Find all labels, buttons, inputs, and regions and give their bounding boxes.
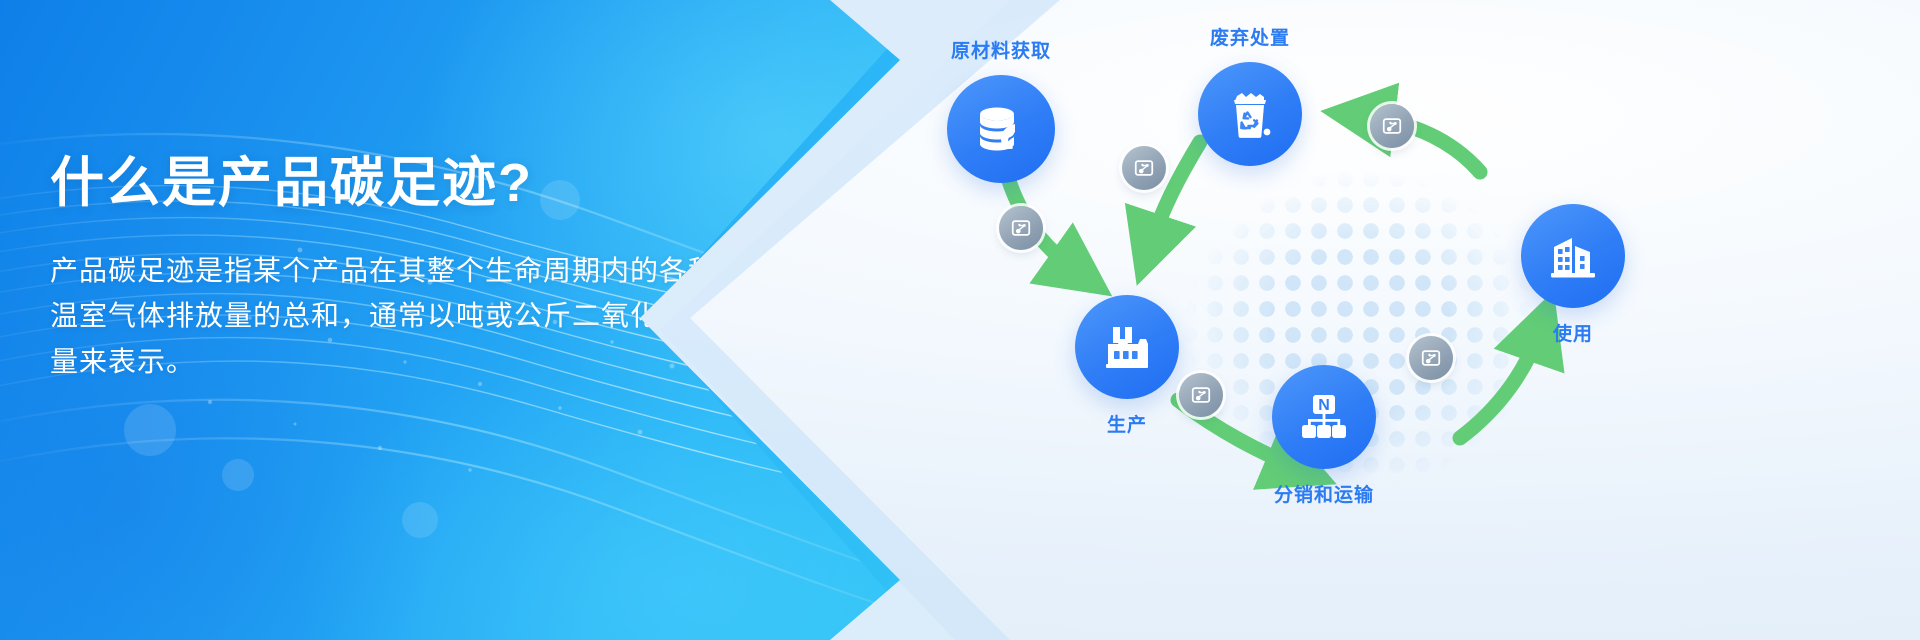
connector-badge-3[interactable] bbox=[1370, 104, 1414, 148]
node-distribution[interactable]: N 分销和运输 bbox=[1272, 365, 1376, 469]
svg-text:N: N bbox=[1318, 397, 1330, 414]
hero-copy: 什么是产品碳足迹? 产品碳足迹是指某个产品在其整个生命周期内的各种温室气体排放量… bbox=[50, 152, 770, 384]
share-nodes-icon bbox=[1190, 384, 1212, 406]
node-label-production: 生产 bbox=[1107, 410, 1147, 437]
connector-badge-4[interactable] bbox=[1409, 336, 1453, 380]
lifecycle-diagram: 原材料获取 废弃处置 bbox=[900, 0, 1920, 640]
node-bubble-distribution[interactable]: N bbox=[1272, 365, 1376, 469]
page-title: 什么是产品碳足迹? bbox=[50, 152, 770, 214]
share-nodes-icon bbox=[1133, 157, 1155, 179]
buildings-icon bbox=[1546, 229, 1600, 283]
arrow-distribution-to-use bbox=[1460, 330, 1540, 438]
connector-badge-1[interactable] bbox=[999, 206, 1043, 250]
node-bubble-production[interactable] bbox=[1075, 295, 1179, 399]
connector-badge-5[interactable] bbox=[1179, 373, 1223, 417]
recycle-bin-icon bbox=[1223, 87, 1277, 141]
node-label-waste: 废弃处置 bbox=[1210, 23, 1290, 50]
node-use[interactable]: 使用 bbox=[1521, 204, 1625, 308]
node-bubble-waste[interactable] bbox=[1198, 62, 1302, 166]
hero-description: 产品碳足迹是指某个产品在其整个生命周期内的各种温室气体排放量的总和，通常以吨或公… bbox=[50, 248, 740, 384]
node-waste[interactable]: 废弃处置 bbox=[1198, 62, 1302, 166]
factory-icon bbox=[1100, 320, 1154, 374]
network-node-icon: N bbox=[1296, 389, 1352, 445]
share-nodes-icon bbox=[1010, 217, 1032, 239]
node-bubble-raw-material[interactable] bbox=[947, 75, 1055, 183]
database-leaf-icon bbox=[973, 101, 1029, 157]
node-production[interactable]: 生产 bbox=[1075, 295, 1179, 399]
hero-banner: 什么是产品碳足迹? 产品碳足迹是指某个产品在其整个生命周期内的各种温室气体排放量… bbox=[0, 0, 1920, 640]
share-nodes-icon bbox=[1381, 115, 1403, 137]
node-label-raw-material: 原材料获取 bbox=[951, 36, 1051, 63]
connector-badge-2[interactable] bbox=[1122, 146, 1166, 190]
node-label-use: 使用 bbox=[1553, 319, 1593, 346]
share-nodes-icon bbox=[1420, 347, 1442, 369]
node-raw-material[interactable]: 原材料获取 bbox=[947, 75, 1055, 183]
node-label-distribution: 分销和运输 bbox=[1274, 480, 1374, 507]
node-bubble-use[interactable] bbox=[1521, 204, 1625, 308]
